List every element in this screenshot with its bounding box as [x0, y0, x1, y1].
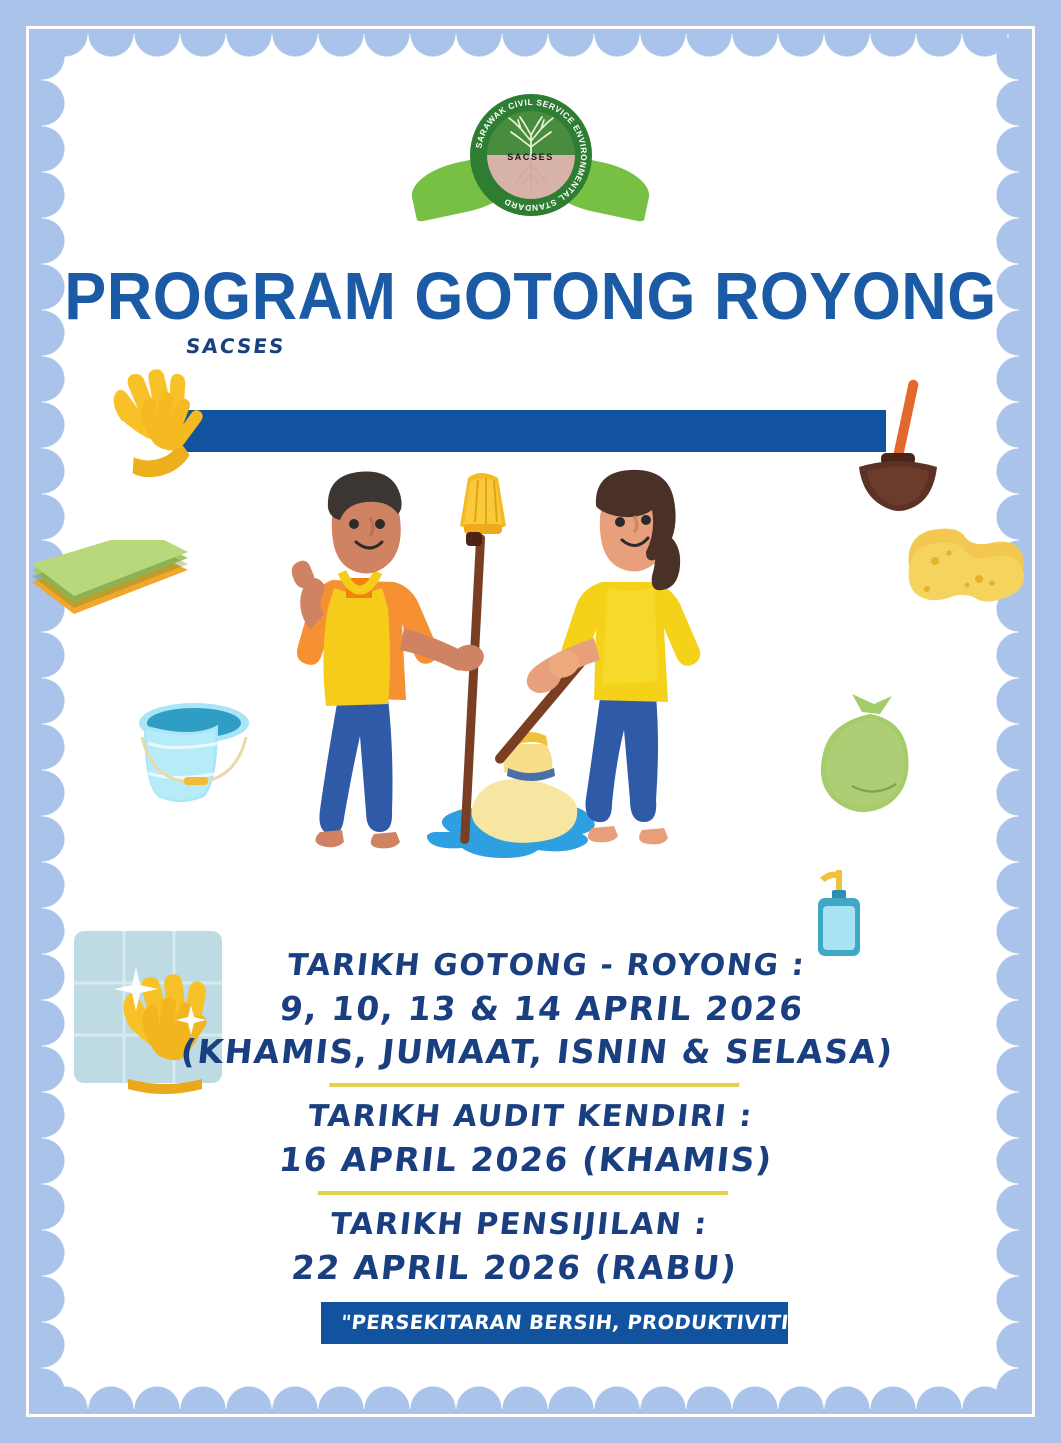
divider-2 — [317, 1191, 727, 1195]
tagline-banner: "PERSEKITARAN BERSIH, PRODUKTIVITI MENIN… — [321, 1302, 788, 1344]
banner-bar — [178, 410, 886, 452]
plunger-icon — [845, 375, 955, 525]
page-title: PROGRAM GOTONG ROYONG — [32, 258, 1029, 335]
divider-1 — [329, 1083, 739, 1087]
water-bucket-icon — [132, 695, 257, 813]
logo-inner-circle: SACSES — [487, 111, 575, 199]
garbage-bag-icon — [818, 690, 923, 815]
sponge-icon — [895, 505, 1030, 615]
sacses-logo: SARAWAK CIVIL SERVICE ENVIRONMENTAL STAN… — [409, 92, 652, 222]
gloves-on-tiles-icon — [68, 925, 238, 1130]
pensijilan-date: 22 APRIL 2026 (RABU) — [0, 1246, 1047, 1289]
logo-disc: SARAWAK CIVIL SERVICE ENVIRONMENTAL STAN… — [470, 94, 592, 216]
two-people-cleaning-illustration — [272, 462, 792, 902]
pensijilan-label: TARIKH PENSIJILAN : — [0, 1203, 1052, 1246]
scrub-sponge-icon — [24, 540, 194, 630]
audit-kendiri-date: 16 APRIL 2026 (KHAMIS) — [0, 1138, 1059, 1181]
soap-dispenser-icon — [810, 860, 868, 960]
mop-head-icon — [472, 732, 578, 843]
logo-center-text: SACSES — [487, 152, 575, 162]
person-left-boy — [292, 471, 487, 848]
poster-canvas: SARAWAK CIVIL SERVICE ENVIRONMENTAL STAN… — [0, 0, 1061, 1443]
rubber-gloves-icon — [88, 352, 228, 492]
tagline-text: "PERSEKITARAN BERSIH, PRODUKTIVITI MENIN… — [340, 1311, 788, 1334]
